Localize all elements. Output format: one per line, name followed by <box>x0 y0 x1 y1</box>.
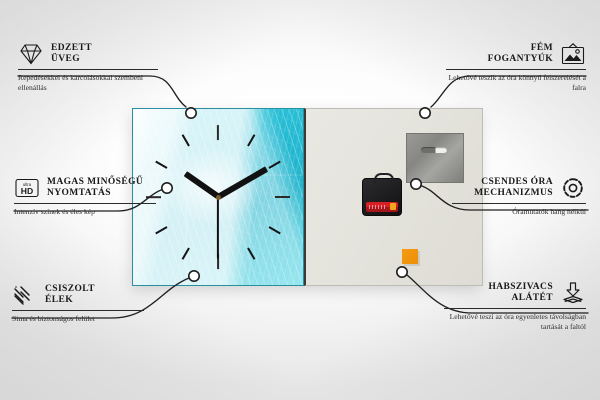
product-image <box>132 108 480 284</box>
feature-subtitle: Repedésekkel és karcolásokkal szembeni e… <box>18 73 158 92</box>
feature-subtitle: Lehetővé teszik az óra könnyű felszerelé… <box>446 73 586 92</box>
feature-divider <box>14 203 156 204</box>
feature-divider <box>18 69 158 70</box>
ultra-hd-icon: ultra HD <box>14 176 40 200</box>
diamond-icon <box>18 42 44 66</box>
feature-title-line2: NYOMTATÁS <box>47 188 143 199</box>
feature-subtitle: Sima és biztonságos felület <box>12 314 144 324</box>
feature-subtitle: Lehetővé teszi az óra egyenletes távolsá… <box>444 312 586 331</box>
feature-divider <box>452 203 586 204</box>
hanger-slot <box>421 147 447 153</box>
clock-second-hand <box>217 197 219 259</box>
feature-header: CSISZOLT ÉLEK <box>12 283 144 307</box>
ultra-hd-icon-main-text: HD <box>21 186 33 196</box>
feature-title-line1: MAGAS MINŐSÉGŰ <box>47 177 143 188</box>
clock-front-face <box>132 108 304 286</box>
feature-header: CSENDES ÓRA MECHANIZMUS <box>452 176 586 200</box>
feature-title-line1: CSISZOLT <box>45 284 95 295</box>
feature-title-line2: ÉLEK <box>45 295 95 306</box>
feature-divider <box>12 310 144 311</box>
infographic-canvas: EDZETT ÜVEG Repedésekkel és karcolásokka… <box>0 0 600 400</box>
feature-title-line2: ALÁTÉT <box>488 293 553 304</box>
clock-tick <box>275 196 290 198</box>
gear-icon <box>560 176 586 200</box>
feature-title-line1: HABSZIVACS <box>488 282 553 293</box>
feature-header: ultra HD MAGAS MINŐSÉGŰ NYOMTATÁS <box>14 176 156 200</box>
feature-title-line1: EDZETT <box>51 43 92 54</box>
feature-subtitle: Óramutatók hang nélkül <box>452 207 586 217</box>
feature-foam-backing[interactable]: HABSZIVACS ALÁTÉT Lehetővé teszi az óra … <box>444 281 586 331</box>
clock-tick <box>217 125 219 140</box>
feature-header: HABSZIVACS ALÁTÉT <box>444 281 586 305</box>
orange-foam-pad <box>402 249 418 264</box>
feature-title-line2: MECHANIZMUS <box>474 188 553 199</box>
feature-header: FÉM FOGANTYÚK <box>446 42 586 66</box>
battery <box>366 202 398 212</box>
feature-title-line1: FÉM <box>488 43 553 54</box>
feature-title-line1: CSENDES ÓRA <box>474 177 553 188</box>
battery-label-lines <box>369 205 387 209</box>
feature-title-line2: ÜVEG <box>51 54 92 65</box>
feature-title-line2: FOGANTYÚK <box>488 54 553 65</box>
quartz-clock-mechanism <box>362 178 402 216</box>
feature-silent-mechanism[interactable]: CSENDES ÓRA MECHANIZMUS Óramutatók hang … <box>452 176 586 217</box>
picture-frame-hanger-icon <box>560 42 586 66</box>
feature-divider <box>446 69 586 70</box>
mechanism-bail <box>374 173 394 184</box>
feature-divider <box>444 308 586 309</box>
feature-subtitle: Intenzív színek és éles kép <box>14 207 156 217</box>
battery-plus-terminal <box>390 203 396 210</box>
feature-polished-edges[interactable]: CSISZOLT ÉLEK Sima és biztonságos felüle… <box>12 283 144 324</box>
foam-pad-arrow-icon <box>560 281 586 305</box>
polished-edges-icon <box>12 283 38 307</box>
feature-tempered-glass[interactable]: EDZETT ÜVEG Repedésekkel és karcolásokka… <box>18 42 158 92</box>
feature-high-quality-print[interactable]: ultra HD MAGAS MINŐSÉGŰ NYOMTATÁS Intenz… <box>14 176 156 217</box>
feature-metal-handles[interactable]: FÉM FOGANTYÚK Lehetővé teszik az óra kön… <box>446 42 586 92</box>
feature-header: EDZETT ÜVEG <box>18 42 158 66</box>
clock-center-cap <box>216 195 221 200</box>
